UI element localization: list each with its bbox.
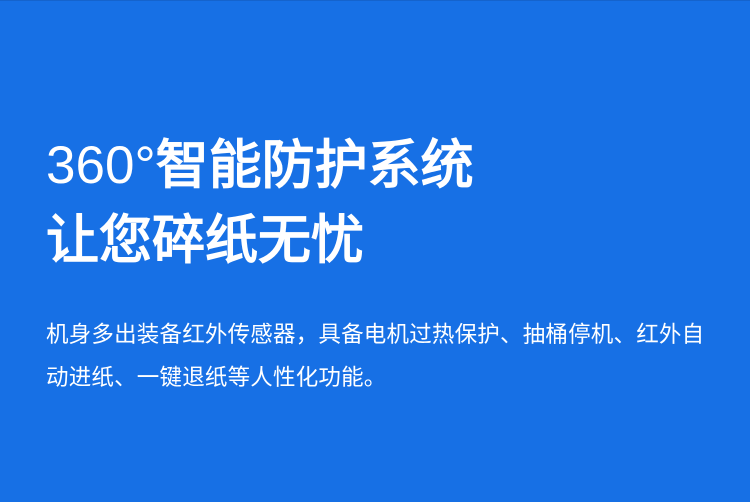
promo-banner: 360°智能防护系统 让您碎纸无忧 机身多出装备红外传感器，具备电机过热保护、抽… <box>0 0 750 502</box>
body-paragraph: 机身多出装备红外传感器，具备电机过热保护、抽桶停机、红外自动进纸、一键退纸等人性… <box>46 313 710 399</box>
headline-line-1: 360°智能防护系统 <box>46 128 714 203</box>
headline-line-1-text: 智能防护系统 <box>156 136 474 195</box>
headline: 360°智能防护系统 让您碎纸无忧 <box>46 128 714 278</box>
degree-symbol-icon: ° <box>134 136 155 195</box>
headline-line-2-text: 让您碎纸无忧 <box>46 203 714 278</box>
headline-number-360: 360 <box>46 136 134 195</box>
banner-content: 360°智能防护系统 让您碎纸无忧 机身多出装备红外传感器，具备电机过热保护、抽… <box>46 128 714 399</box>
top-edge-divider <box>0 0 750 1</box>
